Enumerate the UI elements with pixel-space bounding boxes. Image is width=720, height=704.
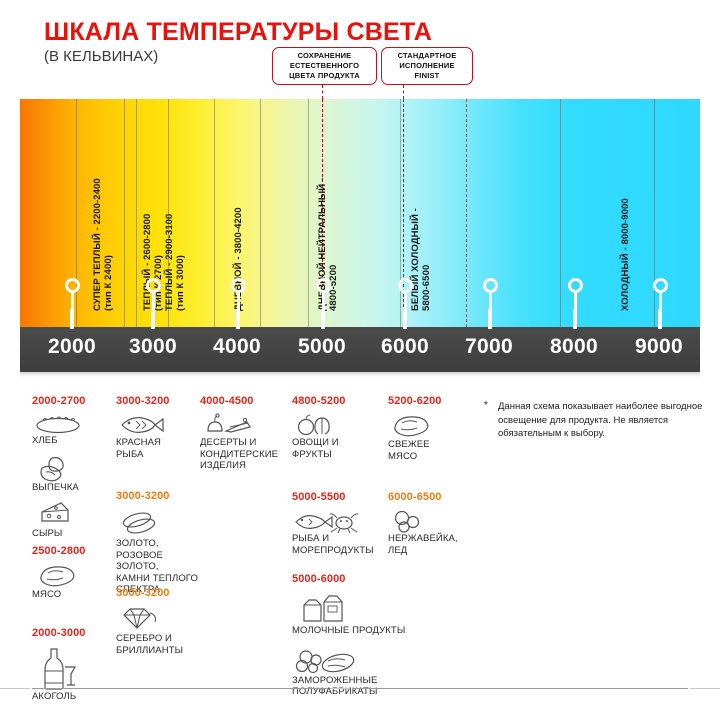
legend-item: СЫРЫ [32, 500, 86, 540]
cheese-icon [32, 500, 84, 528]
band-separator [400, 99, 401, 327]
legend-range: 6000-6500 [388, 491, 458, 503]
legend-item: ЗАМОРОЖЕННЫЕ ПОЛУФАБРИКАТЫ [292, 647, 452, 698]
legend-group: 5200-6200 СВЕЖЕЕ МЯСО [388, 395, 442, 462]
legend-group: 4800-5200 ОВОЩИ И ФРУКТЫ [292, 395, 346, 460]
axis-tick-3000 [151, 309, 155, 329]
bread-icon [32, 413, 84, 435]
legend-item-label: НЕРЖАВЕЙКА, ЛЕД [388, 533, 458, 556]
legend-range: 5000-5500 [292, 491, 374, 503]
legend-range: 2000-3000 [32, 627, 86, 639]
band-separator [76, 99, 77, 327]
legend-item-label: ДЕСЕРТЫ И КОНДИТЕРСКИЕ ИЗДЕЛИЯ [200, 437, 278, 472]
callout-finist-stem [403, 85, 404, 99]
band-separator [214, 99, 215, 327]
alcohol-icon [32, 645, 84, 691]
legend-item: МОЛОЧНЫЕ ПРОДУКТЫ [292, 593, 452, 637]
band-sublabel-super-warm: (тип К 2400) [103, 255, 114, 311]
legend-range: 4800-5200 [292, 395, 346, 407]
legend-group: 4000-4500 ДЕСЕРТЫ И КОНДИТЕРСКИЕ ИЗДЕЛИЯ [200, 395, 278, 472]
bottom-divider-gap [330, 688, 350, 689]
steel-ice-icon [388, 509, 440, 533]
axis-label-6000: 6000 [360, 335, 450, 359]
legend-range: 4000-4500 [200, 395, 278, 407]
axis-tick-9000 [658, 309, 662, 329]
legend-range: 5200-6200 [388, 395, 442, 407]
legend-item: ДЕСЕРТЫ И КОНДИТЕРСКИЕ ИЗДЕЛИЯ [200, 413, 278, 472]
legend-item: РЫБА И МОРЕПРОДУКТЫ [292, 509, 374, 556]
legend-item: НЕРЖАВЕЙКА, ЛЕД [388, 509, 458, 556]
temperature-gradient-bar: СУПЕР ТЕПЛЫЙ - 2200-2400 (тип К 2400) ТЕ… [20, 99, 700, 327]
legend-group: 6000-6500 НЕРЖАВЕЙКА, ЛЕД [388, 491, 458, 556]
legend-item-label: ОВОЩИ И ФРУКТЫ [292, 437, 346, 460]
legend-group: 2500-2800 МЯСО [32, 545, 86, 601]
legend-group: 2000-3000 АКОГОЛЬ [32, 627, 86, 703]
callout-finist-standard: СТАНДАРТНОЕ ИСПОЛНЕНИЕ FINIST [381, 47, 473, 85]
legend-item-label: СЕРЕБРО И БРИЛЛИАНТЫ [116, 633, 183, 656]
legend-item: ВЫПЕЧКА [32, 454, 86, 494]
band-separator [136, 99, 137, 327]
legend-group: 2000-2700 ХЛЕБ ВЫПЕЧКА [32, 395, 86, 540]
band-label-super-warm: СУПЕР ТЕПЛЫЙ - 2200-2400 [92, 178, 103, 311]
seafood-icon [292, 509, 360, 533]
legend-item: ХЛЕБ [32, 413, 86, 447]
legend-range: 3000-3200 [116, 587, 183, 599]
axis-bar-shadow [20, 372, 700, 377]
dessert-icon [200, 413, 262, 437]
bottom-divider-left-edge [0, 688, 30, 689]
legend-item-label: АКОГОЛЬ [32, 691, 86, 703]
axis-label-4000: 4000 [192, 335, 282, 359]
dairy-icon [292, 593, 352, 625]
legend-item-label: МОЛОЧНЫЕ ПРОДУКТЫ [292, 625, 452, 637]
legend-item: СЕРЕБРО И БРИЛЛИАНТЫ [116, 605, 183, 656]
legend-range: 5000-6000 [292, 573, 452, 585]
band-sublabel-white-cold: 5800-6500 [421, 265, 432, 311]
axis-tick-4000 [236, 309, 240, 329]
band-separator [308, 99, 309, 327]
band-separator [560, 99, 561, 327]
legend-group: 5000-5500 РЫБА И МОРЕПРОДУКТЫ [292, 491, 374, 556]
axis-label-9000: 9000 [614, 335, 704, 359]
page-subtitle: (В КЕЛЬВИНАХ) [44, 48, 158, 65]
gold-rings-icon [116, 510, 174, 536]
legend-item: АКОГОЛЬ [32, 645, 86, 703]
legend-item-label: МЯСО [32, 589, 86, 601]
legend-group: 3000-3200 ЗОЛОТО, РОЗОВОЕ ЗОЛОТО, КАМНИ … [116, 490, 206, 596]
legend-group: 3000-3200 КРАСНАЯ РЫБА [116, 395, 170, 460]
legend-range: 2000-2700 [32, 395, 86, 407]
legend-item: КРАСНАЯ РЫБА [116, 413, 170, 460]
legend-item: ЗОЛОТО, РОЗОВОЕ ЗОЛОТО, КАМНИ ТЕПЛОГО СП… [116, 510, 206, 596]
fish-icon [116, 413, 168, 437]
legend-item-label: КРАСНАЯ РЫБА [116, 437, 170, 460]
legend-item: МЯСО [32, 563, 86, 601]
legend-range: 2500-2800 [32, 545, 86, 557]
band-separator [654, 99, 655, 327]
legend-range: 3000-3200 [116, 395, 170, 407]
band-label-white-cold: БЕЛЫЙ ХОЛОДНЫЙ - [410, 208, 421, 311]
page-title: ШКАЛА ТЕМПЕРАТУРЫ СВЕТА [44, 18, 432, 47]
note-text: Данная схема показывает наиболее выгодно… [498, 400, 710, 441]
pastry-icon [32, 454, 84, 482]
axis-tick-8000 [573, 309, 577, 329]
axis-label-7000: 7000 [444, 335, 534, 359]
axis-label-3000: 3000 [108, 335, 198, 359]
band-sublabel-warm-3000: (тип К 3000) [175, 255, 186, 311]
axis-label-2000: 2000 [27, 335, 117, 359]
axis-label-8000: 8000 [529, 335, 619, 359]
legend-item-label: ХЛЕБ [32, 435, 86, 447]
legend-item: ОВОЩИ И ФРУКТЫ [292, 413, 346, 460]
legend-item: СВЕЖЕЕ МЯСО [388, 413, 442, 462]
legend-item-label: ВЫПЕЧКА [32, 482, 86, 494]
axis-tick-7000 [488, 309, 492, 329]
axis-label-5000: 5000 [277, 335, 367, 359]
band-label-warm-3000: ТЕПЛЫЙ - 2900-3100 [164, 214, 175, 311]
note-marker: * [484, 400, 488, 411]
callout-natural-color: СОХРАНЕНИЕ ЕСТЕСТВЕННОГО ЦВЕТА ПРОДУКТА [272, 47, 377, 85]
vegetables-fruits-icon [292, 413, 344, 437]
axis-tick-5000 [321, 309, 325, 329]
fresh-meat-icon [388, 413, 440, 439]
bottom-divider-right [352, 688, 688, 689]
frozen-food-icon [292, 647, 362, 675]
band-separator [124, 99, 125, 327]
scale-axis-bar: 2000 3000 4000 5000 6000 7000 8000 9000 [20, 327, 700, 372]
diamond-icon [116, 605, 168, 633]
bottom-divider-left [32, 688, 328, 689]
axis-tick-6000 [403, 309, 407, 329]
axis-tick-2000 [70, 309, 74, 329]
band-separator [260, 99, 261, 327]
legend-item-label: РЫБА И МОРЕПРОДУКТЫ [292, 533, 374, 556]
legend-group: 5000-6000 МОЛОЧНЫЕ ПРОДУКТЫ [292, 573, 452, 698]
bottom-divider-right-edge [690, 688, 720, 689]
legend-item-label: СЫРЫ [32, 528, 86, 540]
legend-item-label: ЗАМОРОЖЕННЫЕ ПОЛУФАБРИКАТЫ [292, 675, 452, 698]
callout-natural-stem [322, 85, 323, 99]
meat-icon [32, 563, 84, 589]
marker-grey-dashed [466, 99, 467, 327]
legend-item-label: СВЕЖЕЕ МЯСО [388, 439, 442, 462]
legend-group: 3000-3200 СЕРЕБРО И БРИЛЛИАНТЫ [116, 587, 183, 656]
legend-range: 3000-3200 [116, 490, 206, 502]
band-label-cold: ХОЛОДНЫЙ - 8000-9000 [620, 198, 631, 311]
